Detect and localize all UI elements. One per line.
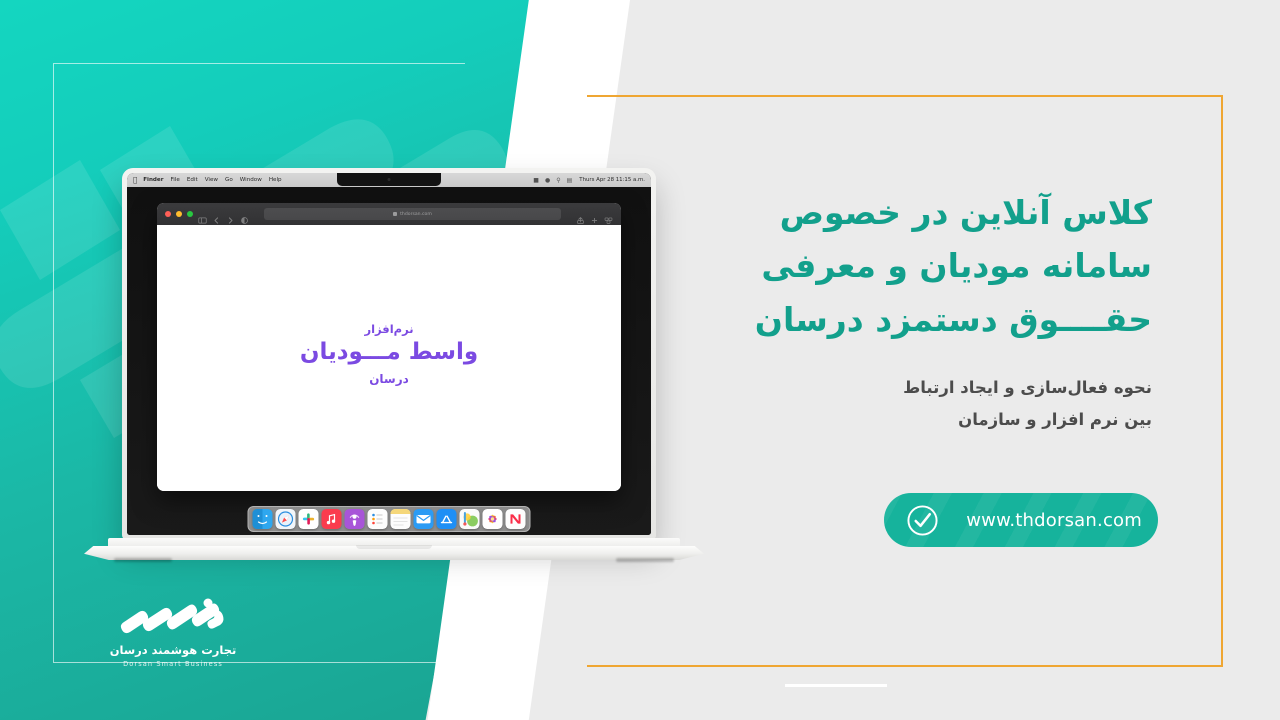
slide-eyebrow: نرم‌افزار: [300, 322, 478, 336]
brand-tagline-en: Dorsan Smart Business: [98, 660, 248, 668]
laptop-mockup:  Finder File Edit View Go Window Help ■…: [84, 160, 704, 560]
lock-icon: [393, 212, 397, 216]
safari-icon[interactable]: [276, 509, 296, 529]
zoom-button[interactable]: [187, 211, 193, 217]
laptop-screen:  Finder File Edit View Go Window Help ■…: [127, 173, 651, 535]
menu-item-edit[interactable]: Edit: [187, 177, 198, 183]
safari-window: thdorsan.com: [157, 203, 621, 491]
app-store-icon[interactable]: [437, 509, 457, 529]
brand-tagline-fa: تجارت هوشمند درسان: [98, 643, 248, 658]
address-bar[interactable]: thdorsan.com: [264, 208, 561, 220]
slack-icon[interactable]: [299, 509, 319, 529]
headline-line-2: سامانه مودیان و معرفی: [732, 239, 1152, 292]
subtitle-text: نحوه فعال‌سازی و ایجاد ارتباط بین نرم اف…: [732, 372, 1152, 435]
apple-logo-icon[interactable]: : [133, 177, 137, 184]
headline-line-3: حقــــوق دستمزد درسان: [732, 293, 1152, 346]
desktop-wallpaper: thdorsan.com: [127, 187, 651, 535]
subtitle-line-1: نحوه فعال‌سازی و ایجاد ارتباط: [732, 372, 1152, 404]
menu-item-view[interactable]: View: [205, 177, 218, 183]
notes-icon[interactable]: [391, 509, 411, 529]
menu-item-window[interactable]: Window: [240, 177, 262, 183]
reminders-icon[interactable]: [368, 509, 388, 529]
keynote-icon[interactable]: [460, 509, 480, 529]
tab-overview-icon[interactable]: [604, 210, 613, 219]
sidebar-icon[interactable]: [198, 210, 207, 219]
presentation-slide: نرم‌افزار واسط مـــودیان درسان: [300, 322, 478, 386]
menu-item-file[interactable]: File: [170, 177, 179, 183]
new-tab-icon[interactable]: [590, 210, 599, 219]
page-title: کلاس آنلاین در خصوص سامانه مودیان و معرف…: [732, 186, 1152, 346]
chevron-left-icon[interactable]: [212, 210, 221, 219]
photos-icon[interactable]: [483, 509, 503, 529]
laptop-lid:  Finder File Edit View Go Window Help ■…: [122, 168, 656, 540]
dorsan-logo: تجارت هوشمند درسان Dorsan Smart Business: [98, 595, 248, 668]
check-circle-icon: [906, 504, 939, 537]
macos-dock: [248, 506, 531, 532]
finder-icon[interactable]: [253, 509, 273, 529]
chevron-right-icon[interactable]: [226, 210, 235, 219]
search-icon[interactable]: ⚲: [556, 177, 560, 184]
copy-block: کلاس آنلاین در خصوص سامانه مودیان و معرف…: [732, 186, 1152, 436]
bottom-white-tick: [785, 684, 887, 687]
minimize-button[interactable]: [176, 211, 182, 217]
wifi-icon[interactable]: ●: [545, 177, 550, 184]
battery-icon[interactable]: ■: [533, 177, 539, 184]
share-icon[interactable]: [576, 210, 585, 219]
mail-icon[interactable]: [414, 509, 434, 529]
laptop-base: [84, 538, 704, 560]
slide-subtitle: درسان: [300, 372, 478, 386]
control-center-icon[interactable]: ▤: [567, 177, 573, 184]
music-icon[interactable]: [322, 509, 342, 529]
laptop-base-notch: [356, 545, 432, 549]
address-text: thdorsan.com: [400, 212, 432, 217]
menu-item-help[interactable]: Help: [269, 177, 282, 183]
safari-toolbar: thdorsan.com: [157, 203, 621, 225]
laptop-foot-left: [114, 558, 172, 562]
safari-content: نرم‌افزار واسط مـــودیان درسان: [157, 225, 621, 491]
website-url-button[interactable]: www.thdorsan.com: [884, 493, 1158, 547]
reader-view-icon[interactable]: [240, 210, 249, 219]
menu-item-go[interactable]: Go: [225, 177, 233, 183]
menubar-clock[interactable]: Thurs Apr 28 11:15 a.m.: [579, 177, 645, 183]
subtitle-line-2: بین نرم افزار و سازمان: [732, 404, 1152, 436]
website-url-text: www.thdorsan.com: [966, 510, 1142, 531]
dorsan-logo-mark: [120, 595, 226, 637]
headline-line-1: کلاس آنلاین در خصوص: [732, 186, 1152, 239]
close-button[interactable]: [165, 211, 171, 217]
slide-title: واسط مـــودیان: [300, 338, 478, 367]
webcam-notch: [337, 173, 441, 186]
laptop-foot-right: [616, 558, 674, 562]
banner-canvas: تجارت هوشمند درسان Dorsan Smart Business…: [0, 0, 1280, 720]
news-icon[interactable]: [506, 509, 526, 529]
podcasts-icon[interactable]: [345, 509, 365, 529]
menu-item-finder[interactable]: Finder: [143, 177, 163, 183]
